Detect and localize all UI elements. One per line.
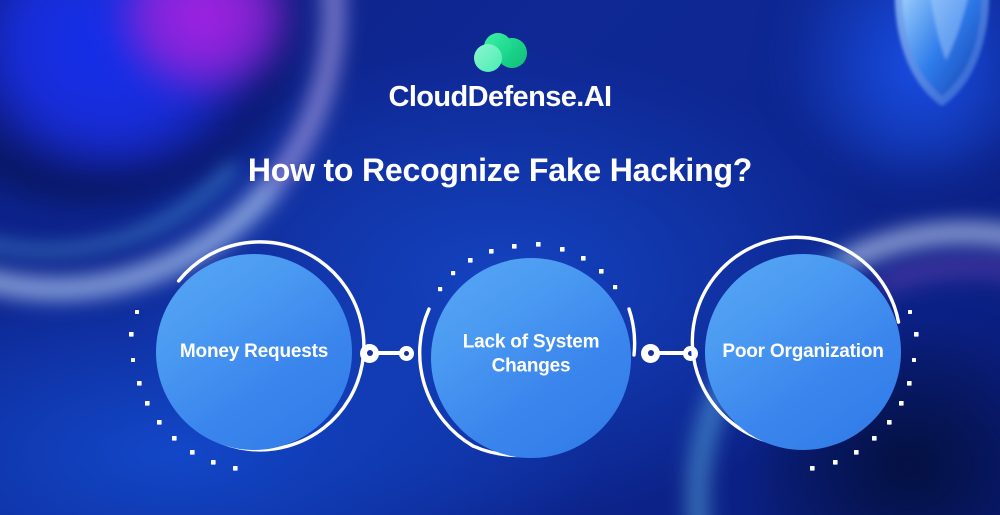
flow-diagram: Money Requests — [0, 0, 1000, 515]
flow-connector-1-endpoint-right — [399, 346, 414, 361]
flow-connector-1-endpoint-left — [360, 344, 379, 363]
flow-node-3[interactable]: Poor Organization — [696, 232, 916, 472]
flow-node-2-label: Lack of System Changes — [431, 331, 631, 380]
infographic-canvas: CloudDefense.AI How to Recognize Fake Ha… — [0, 0, 1000, 515]
flow-connector-1 — [360, 343, 416, 363]
flow-node-2[interactable]: Lack of System Changes — [415, 243, 645, 473]
flow-connector-2-endpoint-left — [641, 344, 660, 363]
flow-node-3-label: Poor Organization — [700, 340, 906, 364]
flow-node-1[interactable]: Money Requests — [141, 232, 356, 472]
flow-node-1-label: Money Requests — [156, 340, 352, 364]
